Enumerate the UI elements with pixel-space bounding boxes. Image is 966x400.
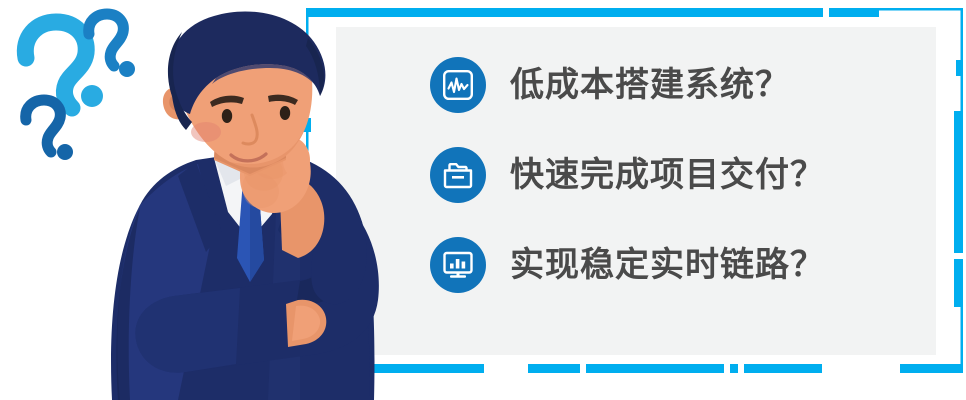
- monitor-bar-chart-icon: [430, 237, 486, 293]
- poster-canvas: 低成本搭建系统？ 快速完成项目交付？: [0, 0, 966, 400]
- feature-question-list: 低成本搭建系统？ 快速完成项目交付？: [430, 52, 930, 332]
- list-item-label: 低成本搭建系统？: [510, 68, 790, 102]
- list-item: 快速完成项目交付？: [430, 142, 930, 208]
- folder-icon: [430, 147, 486, 203]
- list-item: 实现稳定实时链路？: [430, 232, 930, 298]
- list-item-label: 快速完成项目交付？: [510, 158, 825, 192]
- question-marks-group: [4, 8, 154, 168]
- list-item: 低成本搭建系统？: [430, 52, 930, 118]
- monitor-chart-line-icon: [430, 57, 486, 113]
- list-item-label: 实现稳定实时链路？: [510, 248, 825, 282]
